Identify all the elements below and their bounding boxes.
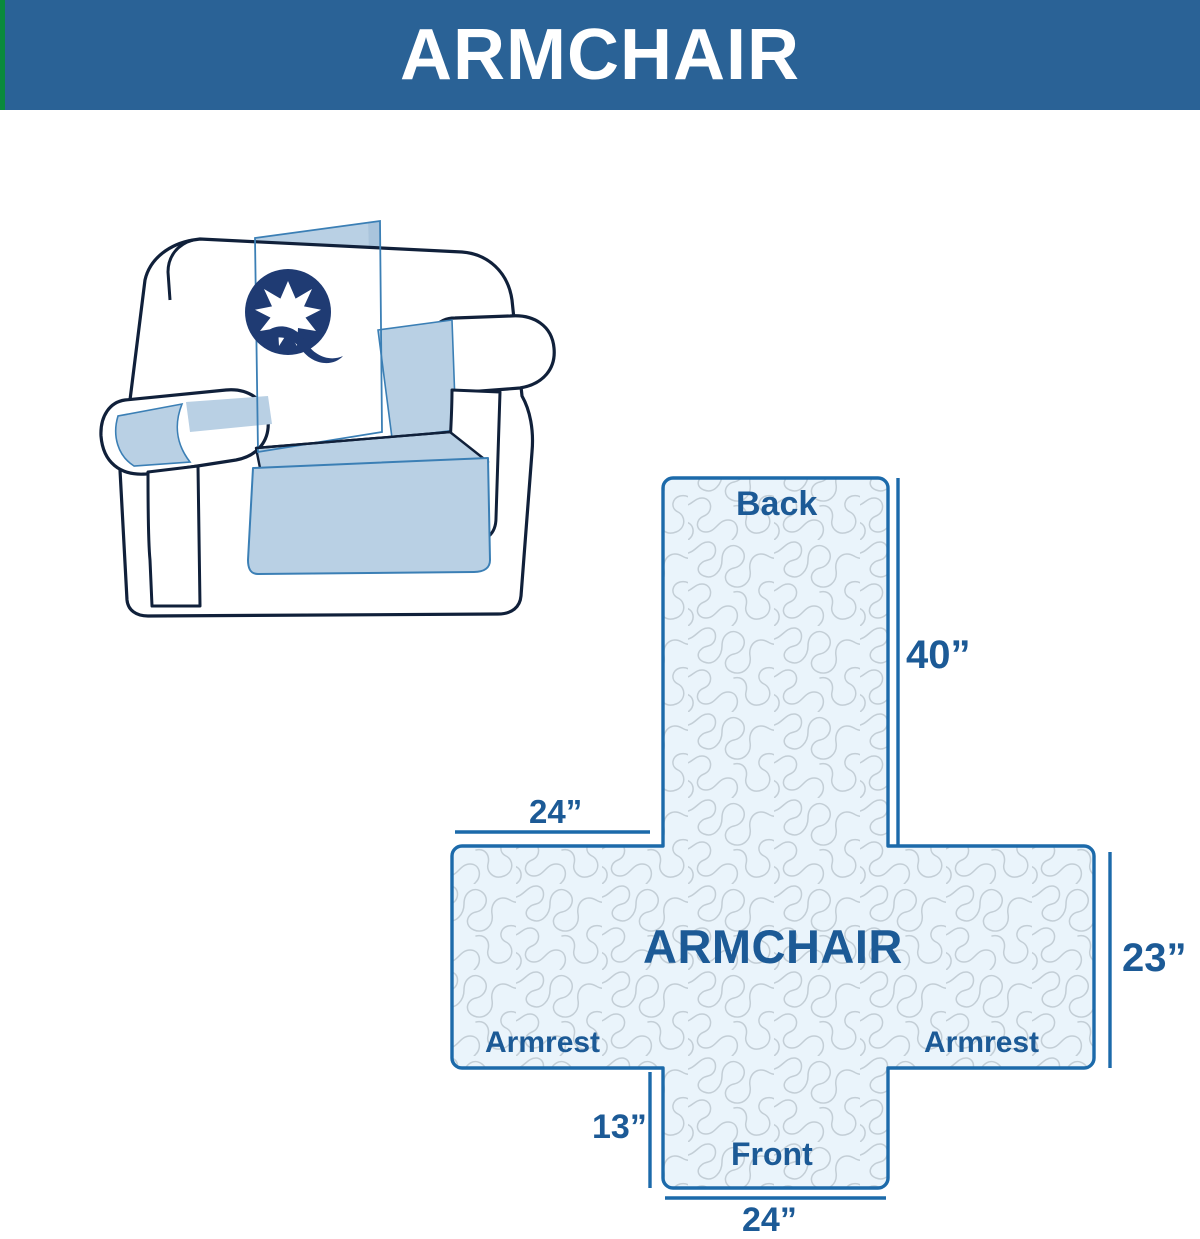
dimension-label-back-height: 40” — [906, 635, 971, 675]
panel-label-armrest-right: Armrest — [924, 1028, 1039, 1058]
panel-label-front: Front — [731, 1138, 813, 1170]
diagram-stage: Back ARMCHAIR Armrest Armrest Front 40” … — [0, 110, 1200, 1200]
dimension-label-center-height: 23” — [1122, 938, 1187, 978]
dimension-label-back-width: 24” — [529, 795, 582, 828]
page-header: ARMCHAIR — [0, 0, 1200, 110]
page-title: ARMCHAIR — [0, 0, 1200, 110]
panel-label-armrest-left: Armrest — [485, 1028, 600, 1058]
dimension-label-front-height: 13” — [592, 1110, 647, 1144]
dimension-label-front-width: 24” — [742, 1203, 797, 1237]
panel-label-center: ARMCHAIR — [643, 923, 903, 970]
panel-label-back: Back — [736, 487, 817, 521]
